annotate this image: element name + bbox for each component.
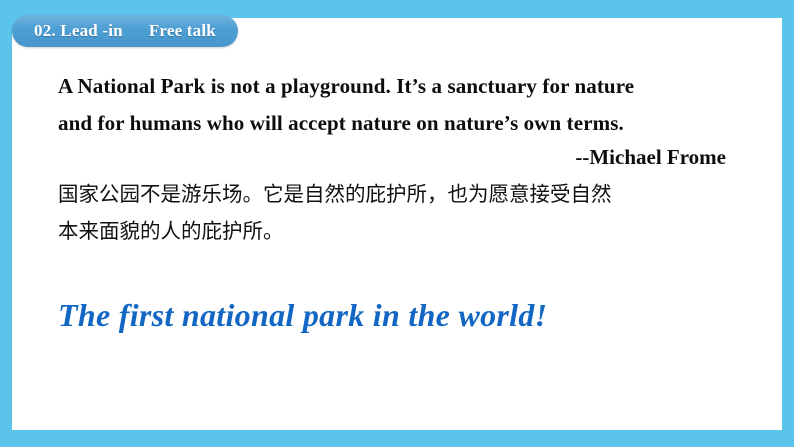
headline-text: The first national park in the world!: [58, 246, 758, 336]
quote-line-2: and for humans who will accept nature on…: [58, 105, 726, 142]
slide-canvas: 02. Lead -in Free talk A National Park i…: [0, 0, 794, 447]
slide-content: A National Park is not a playground. It’…: [58, 68, 758, 336]
section-number-label: 02. Lead -in: [34, 21, 123, 41]
quote-line-1: A National Park is not a playground. It’…: [58, 68, 726, 105]
translation-line-1: 国家公园不是游乐场。它是自然的庇护所，也为愿意接受自然: [58, 180, 710, 209]
section-title-badge: 02. Lead -in Free talk: [12, 15, 238, 47]
translation-line-2: 本来面貌的人的庇护所。: [58, 217, 710, 246]
section-activity-label: Free talk: [149, 21, 216, 41]
quote-attribution: --Michael Frome: [58, 142, 726, 172]
